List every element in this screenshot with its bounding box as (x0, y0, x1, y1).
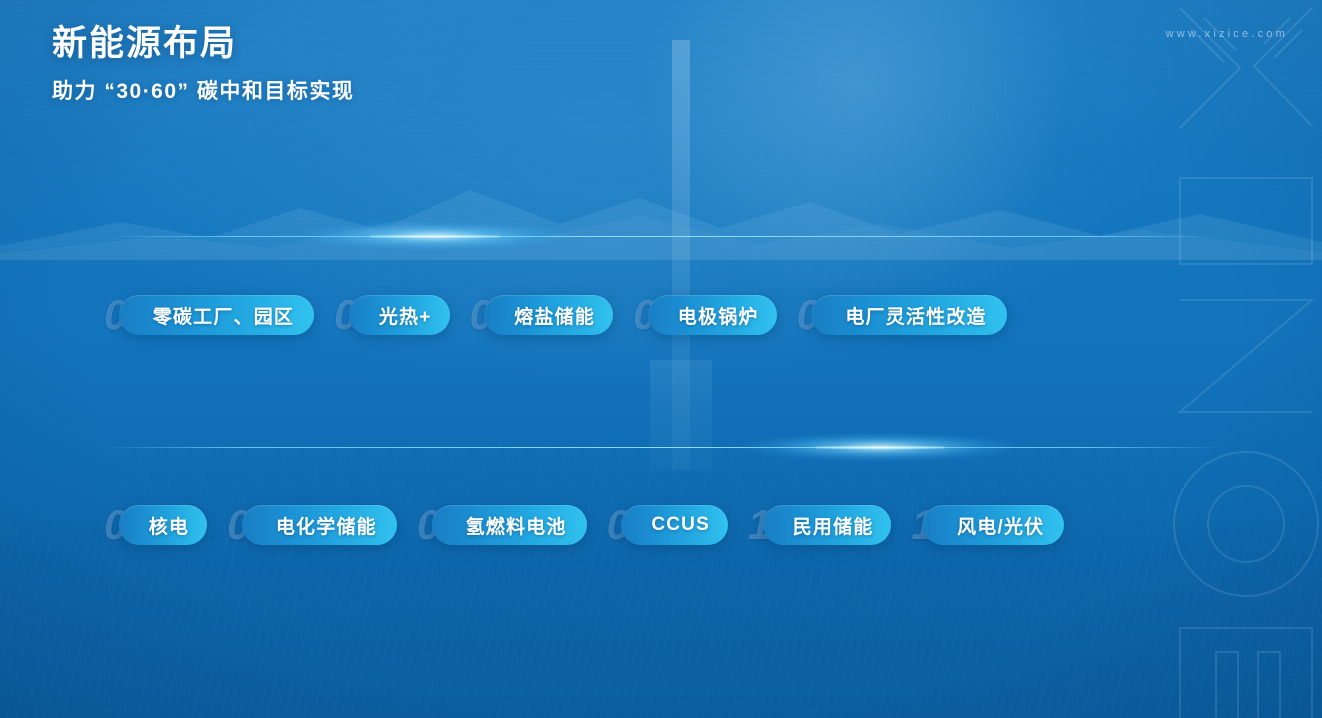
item-label: 电极锅炉 (678, 302, 759, 329)
item-row-top: 01零碳工厂、园区02光热+03熔盐储能04电极锅炉05电厂灵活性改造 (0, 287, 1322, 343)
layout-item-08[interactable]: 08氢燃料电池 (417, 502, 587, 548)
divider-glow-core (815, 446, 945, 449)
item-label: 光热+ (379, 302, 432, 329)
item-pill[interactable]: 电化学储能 (242, 505, 397, 545)
item-label: 电厂灵活性改造 (845, 302, 986, 329)
item-label: 氢燃料电池 (466, 512, 567, 539)
layout-item-06[interactable]: 06核电 (104, 502, 207, 548)
layout-item-09[interactable]: 09CCUS (607, 502, 728, 548)
item-pill[interactable]: 电极锅炉 (648, 295, 777, 335)
divider-line (105, 236, 1222, 237)
item-pill[interactable]: CCUS (621, 505, 728, 545)
item-label: CCUS (651, 514, 710, 536)
divider-line (105, 447, 1222, 448)
layout-item-05[interactable]: 05电厂灵活性改造 (797, 292, 1007, 338)
divider-line-bottom (0, 446, 1322, 449)
item-pill[interactable]: 民用储能 (763, 505, 892, 545)
item-pill[interactable]: 熔盐储能 (484, 295, 613, 335)
layout-item-07[interactable]: 07电化学储能 (227, 502, 397, 548)
layout-item-03[interactable]: 03熔盐储能 (470, 292, 614, 338)
layout-item-01[interactable]: 01零碳工厂、园区 (104, 292, 314, 338)
slide-root: 新能源布局 助力 “30·60” 碳中和目标实现 www.xizice.com … (0, 0, 1322, 718)
item-pill[interactable]: 电厂灵活性改造 (811, 295, 1006, 335)
item-label: 熔盐储能 (514, 302, 595, 329)
item-label: 零碳工厂、园区 (153, 302, 294, 329)
item-label: 电化学储能 (276, 512, 377, 539)
layout-item-04[interactable]: 04电极锅炉 (633, 292, 777, 338)
header: 新能源布局 助力 “30·60” 碳中和目标实现 (52, 22, 354, 105)
item-label: 民用储能 (793, 512, 874, 539)
layout-item-10[interactable]: 10民用储能 (748, 502, 892, 548)
item-label: 风电/光伏 (957, 512, 1044, 539)
background-noise-texture (0, 0, 1322, 718)
page-subtitle: 助力 “30·60” 碳中和目标实现 (52, 75, 354, 105)
divider-line-top (0, 235, 1322, 238)
item-row-bottom: 06核电07电化学储能08氢燃料电池09CCUS10民用储能11风电/光伏 (0, 497, 1322, 553)
page-title: 新能源布局 (52, 22, 354, 66)
item-pill[interactable]: 核电 (119, 505, 207, 545)
website-url: www.xizice.com (1166, 28, 1288, 40)
item-pill[interactable]: 风电/光伏 (923, 505, 1064, 545)
item-pill[interactable]: 零碳工厂、园区 (119, 295, 314, 335)
item-pill[interactable]: 氢燃料电池 (432, 505, 587, 545)
xizi-watermark (1162, 0, 1322, 718)
layout-item-02[interactable]: 02光热+ (334, 292, 449, 338)
layout-item-11[interactable]: 11风电/光伏 (911, 502, 1064, 548)
item-pill[interactable]: 光热+ (349, 295, 450, 335)
item-label: 核电 (149, 512, 189, 539)
divider-glow-core (370, 235, 500, 238)
